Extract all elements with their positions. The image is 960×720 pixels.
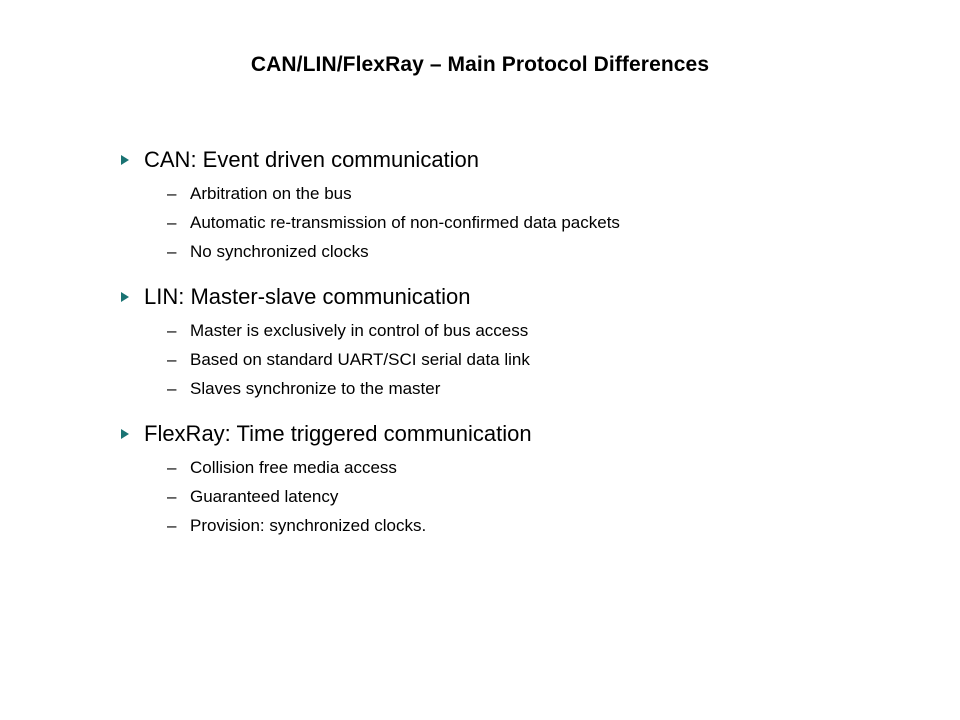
bullet-heading-label: FlexRay: Time triggered communication: [144, 419, 532, 449]
sub-bullet-label: Arbitration on the bus: [190, 179, 352, 208]
bullet-group-flexray: FlexRay: Time triggered communication – …: [118, 419, 878, 540]
sub-bullet-label: Provision: synchronized clocks.: [190, 511, 426, 540]
sub-bullet-label: Automatic re-transmission of non-confirm…: [190, 208, 620, 237]
sub-bullet-list: – Master is exclusively in control of bu…: [118, 316, 878, 403]
bullet-heading-label: CAN: Event driven communication: [144, 145, 479, 175]
page-title: CAN/LIN/FlexRay – Main Protocol Differen…: [0, 52, 960, 78]
dash-icon: –: [167, 511, 190, 540]
bullet-group-can: CAN: Event driven communication – Arbitr…: [118, 145, 878, 266]
sub-bullet-item: – No synchronized clocks: [118, 237, 878, 266]
sub-bullet-item: – Based on standard UART/SCI serial data…: [118, 345, 878, 374]
sub-bullet-label: Master is exclusively in control of bus …: [190, 316, 528, 345]
slide-canvas: CAN/LIN/FlexRay – Main Protocol Differen…: [0, 0, 960, 720]
dash-icon: –: [167, 345, 190, 374]
triangle-right-icon: [118, 297, 144, 298]
sub-bullet-item: – Guaranteed latency: [118, 482, 878, 511]
dash-icon: –: [167, 482, 190, 511]
sub-bullet-label: No synchronized clocks: [190, 237, 369, 266]
sub-bullet-label: Slaves synchronize to the master: [190, 374, 440, 403]
dash-icon: –: [167, 453, 190, 482]
sub-bullet-list: – Collision free media access – Guarante…: [118, 453, 878, 540]
triangle-right-icon: [118, 160, 144, 161]
sub-bullet-item: – Master is exclusively in control of bu…: [118, 316, 878, 345]
dash-icon: –: [167, 374, 190, 403]
slide-body: CAN: Event driven communication – Arbitr…: [118, 145, 878, 540]
dash-icon: –: [167, 316, 190, 345]
sub-bullet-item: – Provision: synchronized clocks.: [118, 511, 878, 540]
sub-bullet-item: – Arbitration on the bus: [118, 179, 878, 208]
bullet-group-lin: LIN: Master-slave communication – Master…: [118, 282, 878, 403]
sub-bullet-list: – Arbitration on the bus – Automatic re-…: [118, 179, 878, 266]
sub-bullet-item: – Automatic re-transmission of non-confi…: [118, 208, 878, 237]
sub-bullet-label: Collision free media access: [190, 453, 397, 482]
sub-bullet-label: Guaranteed latency: [190, 482, 338, 511]
sub-bullet-item: – Collision free media access: [118, 453, 878, 482]
dash-icon: –: [167, 179, 190, 208]
bullet-heading-label: LIN: Master-slave communication: [144, 282, 470, 312]
dash-icon: –: [167, 208, 190, 237]
sub-bullet-label: Based on standard UART/SCI serial data l…: [190, 345, 530, 374]
bullet-heading-row: CAN: Event driven communication: [118, 145, 878, 175]
bullet-heading-row: FlexRay: Time triggered communication: [118, 419, 878, 449]
sub-bullet-item: – Slaves synchronize to the master: [118, 374, 878, 403]
dash-icon: –: [167, 237, 190, 266]
bullet-heading-row: LIN: Master-slave communication: [118, 282, 878, 312]
triangle-right-icon: [118, 434, 144, 435]
